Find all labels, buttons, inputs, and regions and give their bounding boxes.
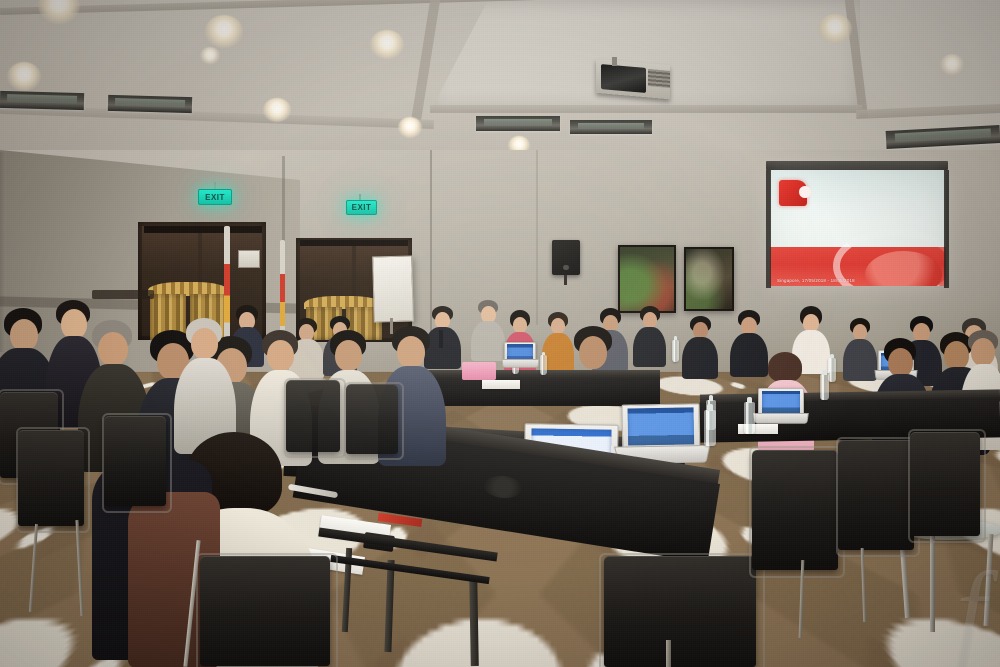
wall-seam-3 [536, 150, 538, 325]
door-pole-left [224, 226, 230, 338]
water-bottle-right-2 [820, 374, 829, 400]
downlight-10 [940, 54, 964, 75]
chair-mid-1[interactable] [286, 380, 340, 452]
glass-table-leg-3 [930, 536, 935, 632]
downlight-4 [200, 47, 220, 64]
flipchart-easel[interactable] [372, 255, 414, 322]
chair-mid-2[interactable] [346, 384, 398, 454]
ceiling-vent-4 [570, 120, 652, 134]
projector-vent [648, 69, 670, 88]
downlight-5 [7, 62, 41, 91]
chair-right-3[interactable] [910, 432, 980, 536]
exit-sign-bracket-1 [214, 182, 216, 189]
chair-foreground-1[interactable] [200, 556, 330, 666]
chair-left-2[interactable] [18, 430, 84, 526]
slide-color-band: Singapore, 17/05/2018 - 18/05/2018 [770, 247, 946, 286]
ceiling-vent-2 [108, 95, 192, 113]
door-sign-left [238, 250, 260, 268]
projector-mount [612, 57, 617, 66]
exit-sign-label-1: EXIT [205, 193, 225, 202]
downlight-7 [398, 117, 422, 138]
framed-artwork-left [618, 245, 676, 313]
laptop-far-1[interactable] [504, 342, 534, 368]
wall-plaque-left [92, 290, 154, 299]
door-header-left [144, 226, 262, 233]
exit-sign-2: EXIT [346, 200, 377, 215]
screen-edge-left [766, 170, 771, 288]
downlight-6 [263, 98, 291, 122]
chair-right-2[interactable] [838, 440, 914, 550]
water-bottle-far-3 [672, 340, 679, 362]
slide-logo [779, 180, 807, 206]
projection-screen-housing [766, 161, 948, 170]
chair-foreground-2[interactable] [604, 556, 756, 667]
conference-room-photo: EXIT EXIT [0, 0, 1000, 667]
ceiling-vent-3 [476, 116, 560, 131]
ceiling-beam-4 [430, 105, 862, 113]
chair-leg-3 [666, 640, 671, 667]
projection-screen[interactable]: Singapore, 17/05/2018 - 18/05/2018 [770, 170, 946, 286]
water-bottle-fg-2 [744, 402, 755, 434]
screen-edge-right [944, 170, 949, 288]
framed-artwork-right [684, 247, 734, 311]
table-leg-2 [469, 576, 479, 666]
necktie [439, 330, 443, 348]
chair-left-3[interactable] [104, 416, 166, 506]
pink-tissue-box [462, 362, 496, 380]
slide-caption: Singapore, 17/05/2018 - 18/05/2018 [777, 278, 855, 283]
water-bottle-fg-1 [704, 410, 716, 446]
flipchart-leg [390, 318, 393, 334]
laptop-right-1[interactable] [758, 388, 802, 424]
ceiling-vent-1 [0, 91, 84, 110]
watermark: f [956, 557, 986, 665]
projector-lens [601, 64, 646, 93]
exit-sign-label-2: EXIT [352, 203, 372, 212]
exit-sign-1: EXIT [198, 189, 232, 205]
downlight-2 [205, 15, 243, 48]
door-pole-right [280, 240, 285, 340]
chair-right-1[interactable] [752, 450, 838, 570]
wall-speaker [552, 240, 580, 275]
water-bottle-far-4 [828, 358, 836, 382]
downlight-9 [818, 14, 852, 44]
speaker-mount [564, 275, 567, 285]
wall-seam-2 [430, 150, 432, 335]
water-bottle-far-2 [540, 355, 547, 375]
paper-far-1 [482, 380, 520, 389]
downlight-3 [370, 30, 404, 59]
